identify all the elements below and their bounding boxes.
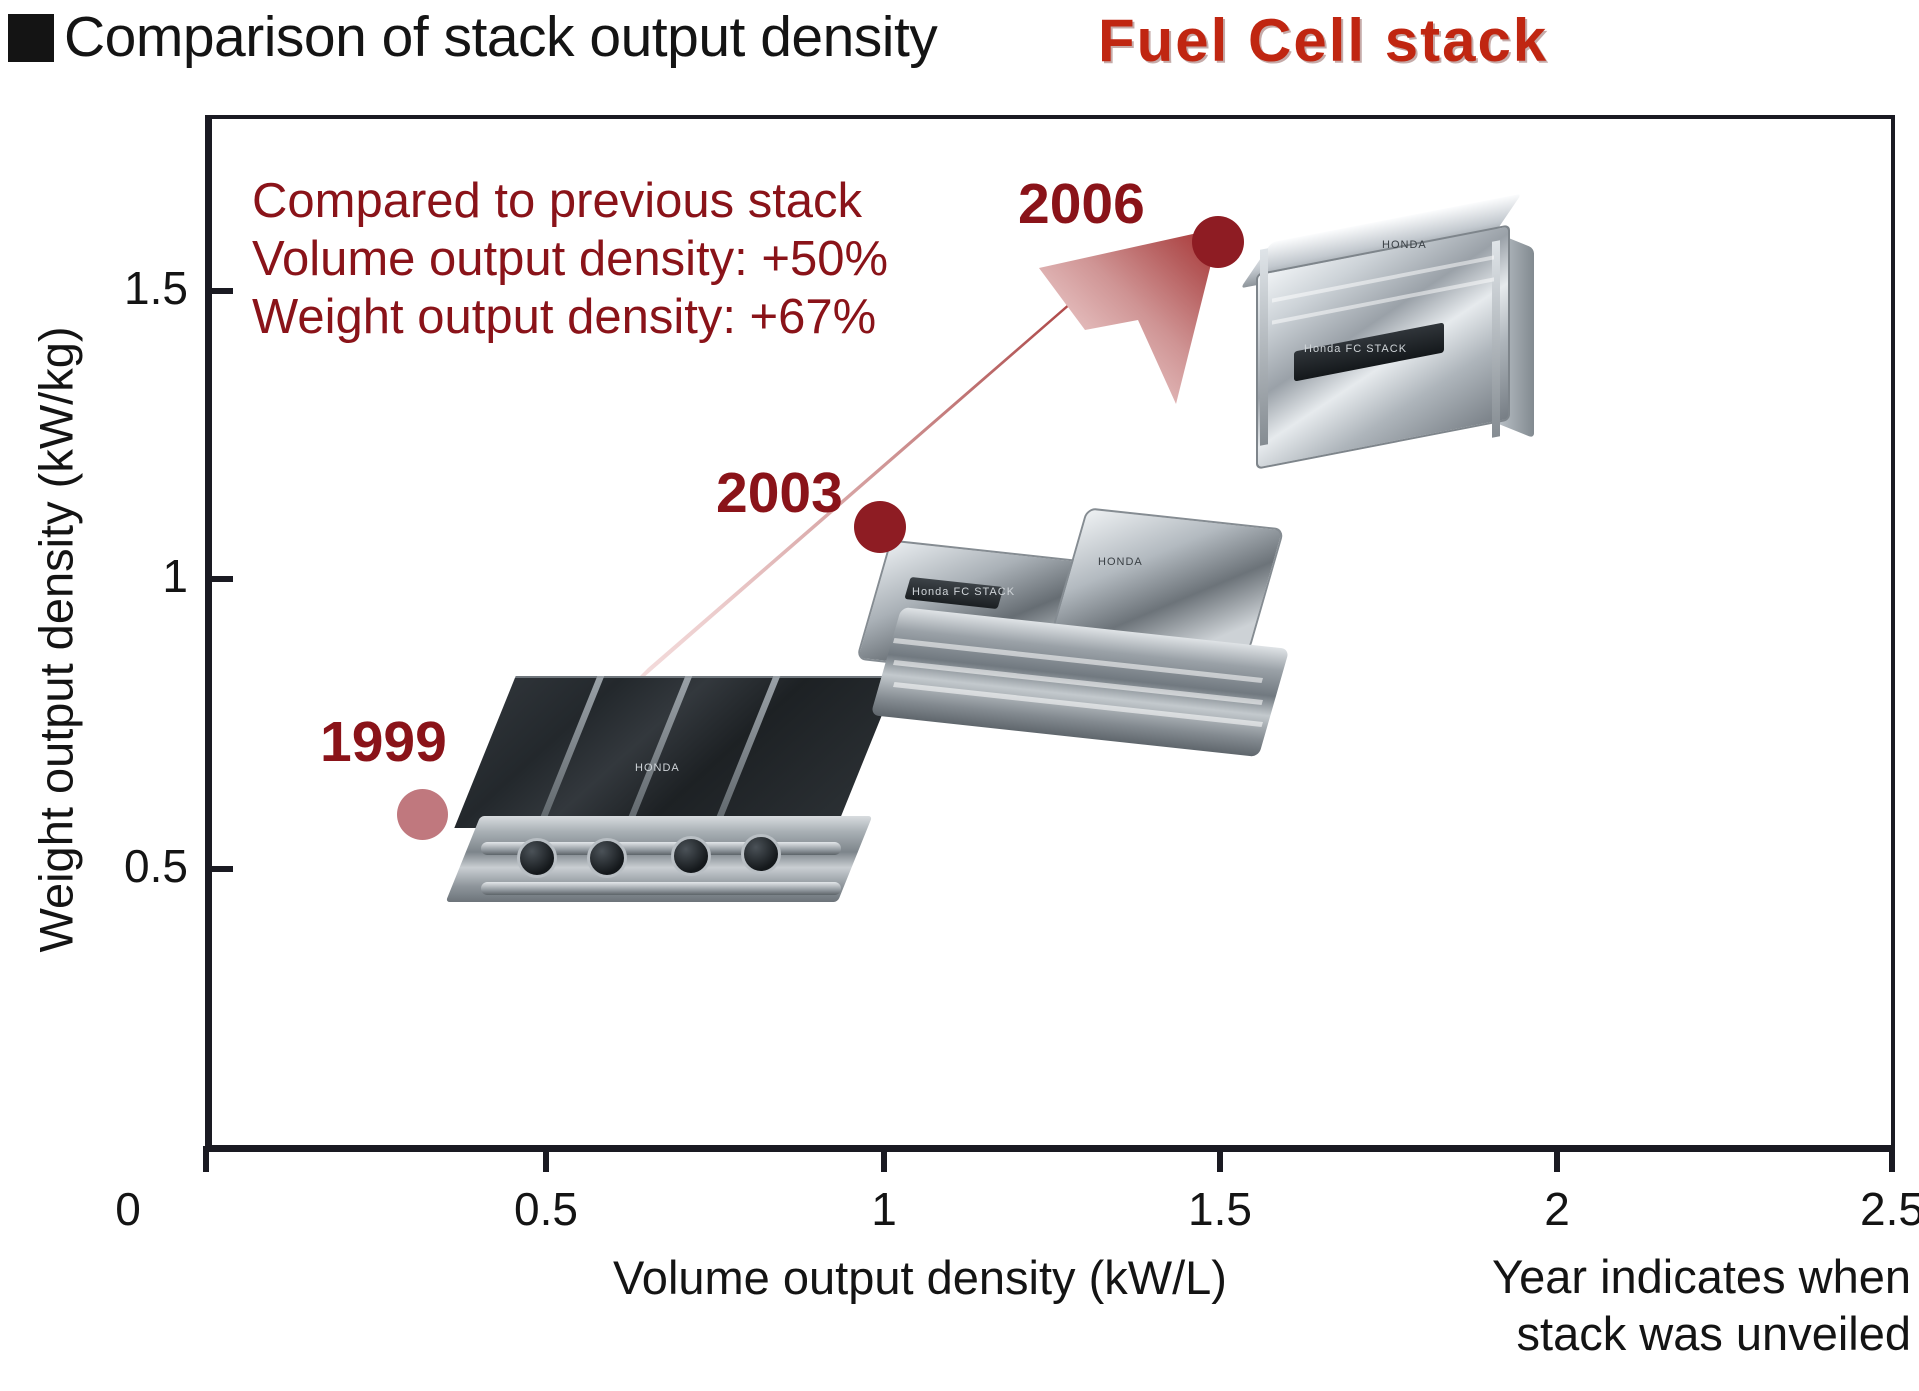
- stack-2003-brand-label: HONDA: [1098, 556, 1143, 568]
- x-tick-2-5: [1889, 1146, 1895, 1172]
- data-label-1999: 1999: [320, 712, 447, 772]
- annotation-line-2: Volume output density: +50%: [252, 230, 888, 288]
- data-point-1999[interactable]: [397, 789, 448, 840]
- x-tick-label-1-5: 1.5: [1160, 1186, 1280, 1232]
- chart-page: Comparison of stack output density Fuel …: [0, 0, 1919, 1391]
- x-tick-1-5: [1217, 1146, 1223, 1172]
- x-tick-label-2: 2: [1497, 1186, 1617, 1232]
- plot-frame-right-edge: [1891, 115, 1895, 1152]
- square-bullet-icon: [8, 14, 54, 62]
- plot-frame-top-edge: [205, 115, 1895, 119]
- footnote-line-2: stack was unveiled: [1492, 1305, 1911, 1362]
- y-tick-0-5: [205, 866, 233, 872]
- x-axis-title: Volume output density (kW/L): [420, 1250, 1420, 1305]
- data-label-2003: 2003: [716, 463, 843, 523]
- stack-2006-plate-label: Honda FC STACK: [1304, 343, 1407, 355]
- stack-1999-port: [517, 838, 557, 878]
- stack-2006-edge-band: [1492, 240, 1500, 438]
- stack-2003-plate-label: Honda FC STACK: [912, 586, 1015, 598]
- y-tick-label-1: 1: [78, 553, 188, 599]
- y-tick-label-1-5: 1.5: [78, 265, 188, 311]
- stack-1999-port: [741, 834, 781, 874]
- data-point-2006[interactable]: [1192, 216, 1244, 268]
- y-tick-1-5: [205, 288, 233, 294]
- comparison-annotation: Compared to previous stack Volume output…: [252, 172, 888, 346]
- y-tick-label-0-5: 0.5: [78, 843, 188, 889]
- x-tick-label-0-5: 0.5: [486, 1186, 606, 1232]
- stack-1999-port: [671, 836, 711, 876]
- stack-1999-tube: [481, 882, 841, 895]
- x-tick-0-5: [543, 1146, 549, 1172]
- stack-2006-edge-band: [1260, 248, 1268, 446]
- y-axis-title: Weight output density (kW/kg): [29, 140, 84, 1140]
- x-tick-label-0: 0: [68, 1186, 188, 1232]
- stack-1999-brand-label: HONDA: [635, 762, 680, 774]
- fuel-cell-stack-photo-2006: Honda FC STACK HONDA: [1232, 215, 1550, 465]
- y-tick-1: [205, 576, 233, 582]
- x-tick-label-2-5: 2.5: [1832, 1186, 1919, 1232]
- fuel-cell-stack-photo-1999: HONDA: [455, 676, 867, 916]
- x-tick-0-1: [203, 1146, 209, 1172]
- stack-2006-brand-label: HONDA: [1382, 239, 1427, 251]
- x-tick-label-1: 1: [824, 1186, 944, 1232]
- data-point-2003[interactable]: [854, 501, 906, 553]
- fuel-cell-stack-photo-2003: Honda FC STACK HONDA: [870, 508, 1300, 750]
- footnote-line-1: Year indicates when: [1492, 1248, 1911, 1305]
- fuel-cell-stack-badge: Fuel Cell stack: [1098, 6, 1548, 76]
- annotation-line-3: Weight output density: +67%: [252, 288, 888, 346]
- footnote: Year indicates when stack was unveiled: [1492, 1248, 1911, 1362]
- page-title: Comparison of stack output density: [64, 2, 937, 72]
- x-tick-1: [881, 1146, 887, 1172]
- stack-1999-port: [587, 838, 627, 878]
- annotation-line-1: Compared to previous stack: [252, 172, 888, 230]
- x-tick-2: [1554, 1146, 1560, 1172]
- data-label-2006: 2006: [1018, 174, 1145, 234]
